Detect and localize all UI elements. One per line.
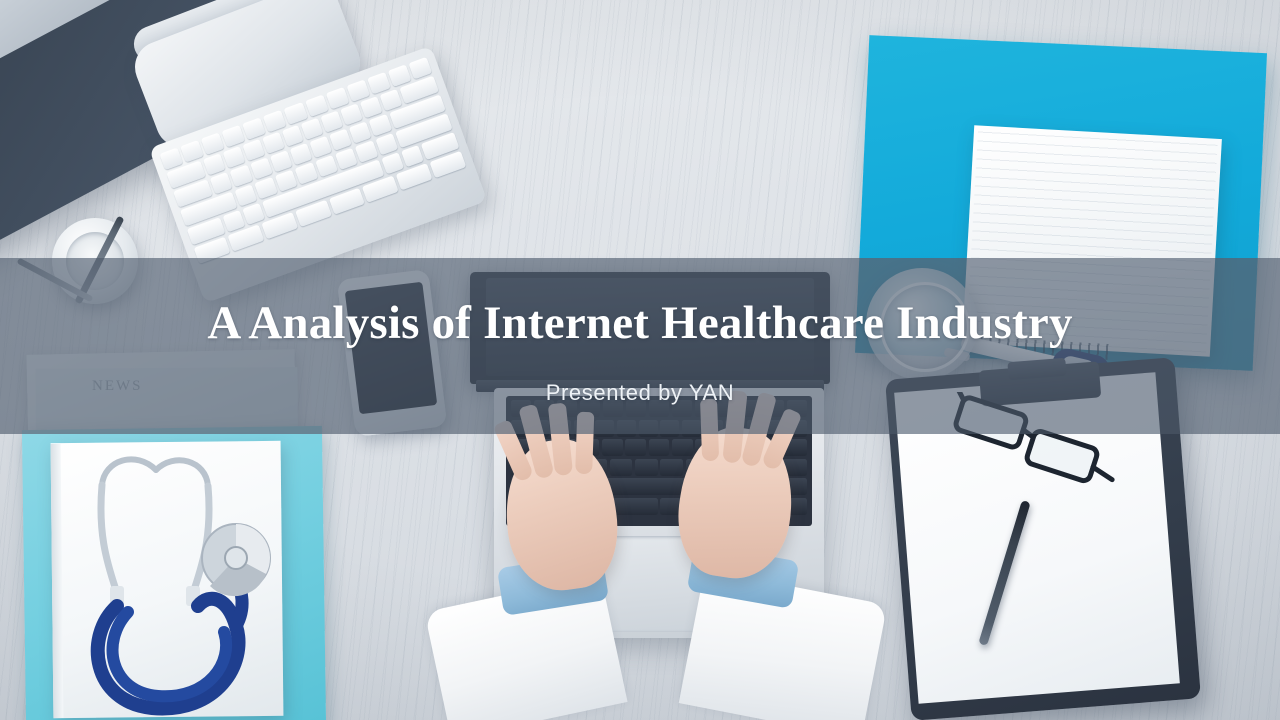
presentation-title-slide: NEWS (0, 0, 1280, 720)
page-title: A Analysis of Internet Healthcare Indust… (0, 296, 1280, 350)
presenter-subtitle: Presented by YAN (0, 380, 1280, 406)
stethoscope-icon (40, 440, 340, 720)
